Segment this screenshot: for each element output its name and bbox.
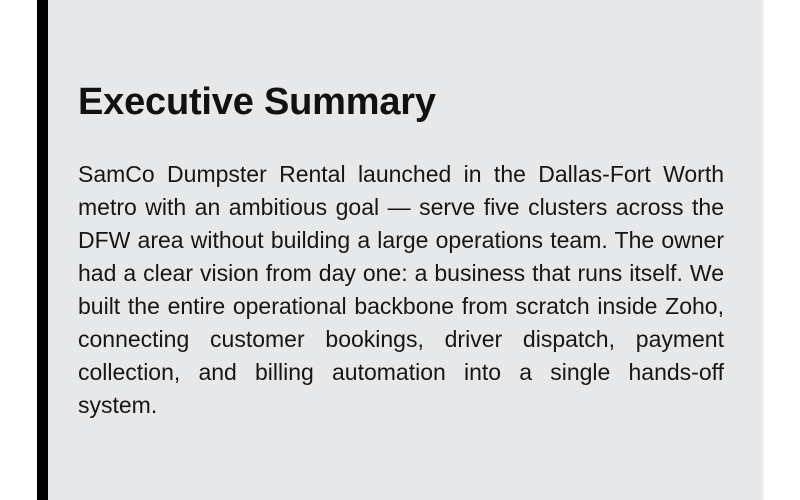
slide-root: Executive Summary SamCo Dumpster Rental …: [0, 0, 800, 500]
left-gutter: [0, 0, 36, 500]
left-accent-bar: [37, 0, 48, 500]
summary-paragraph: SamCo Dumpster Rental launched in the Da…: [78, 158, 724, 422]
text-block: Executive Summary SamCo Dumpster Rental …: [78, 0, 724, 500]
right-gutter: [764, 0, 800, 500]
section-heading: Executive Summary: [78, 80, 724, 124]
